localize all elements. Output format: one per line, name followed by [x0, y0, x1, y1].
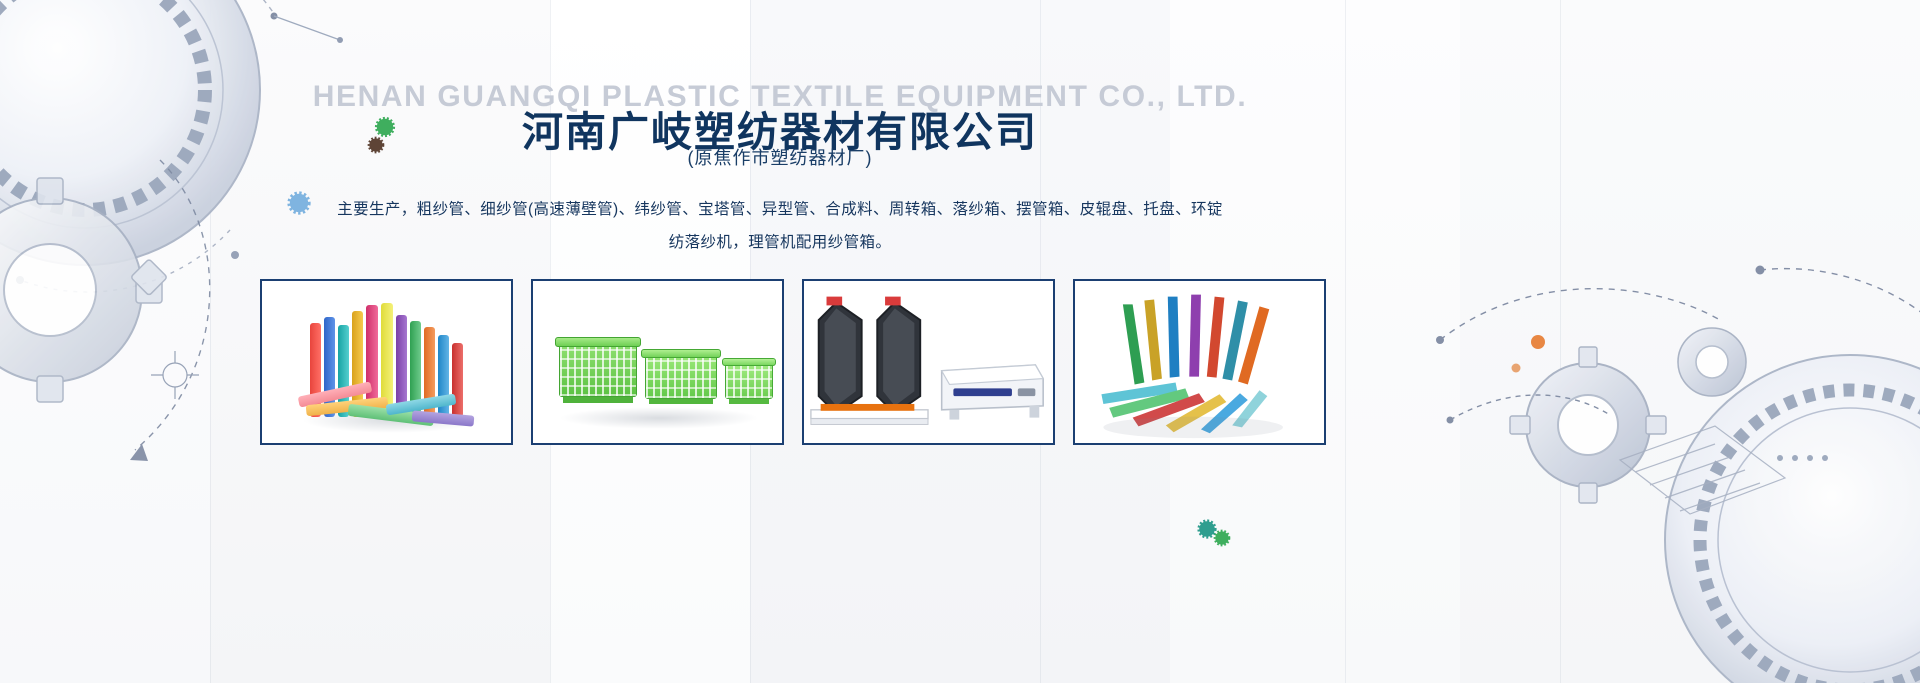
bobbin-tubes-photo [262, 281, 511, 443]
cone-tubes-photo [1075, 281, 1324, 443]
page-subtitle: (原焦作市塑纺器材厂) [0, 144, 1560, 170]
panel-divider [1560, 0, 1561, 683]
product-card-crates[interactable] [531, 279, 784, 445]
company-description: 主要生产，粗纱管、细纱管(高速薄壁管)、纬纱管、宝塔管、异型管、合成料、周转箱、… [330, 193, 1230, 259]
plastic-crates-photo [533, 281, 782, 443]
product-card-cone-tubes[interactable] [1073, 279, 1326, 445]
product-card-bobbin-tubes[interactable] [260, 279, 513, 445]
textile-machine-photo [804, 281, 1053, 443]
product-card-machine[interactable] [802, 279, 1055, 445]
product-card-list [260, 279, 1326, 445]
company-banner: HENAN GUANGQI PLASTIC TEXTILE EQUIPMENT … [0, 0, 1920, 683]
